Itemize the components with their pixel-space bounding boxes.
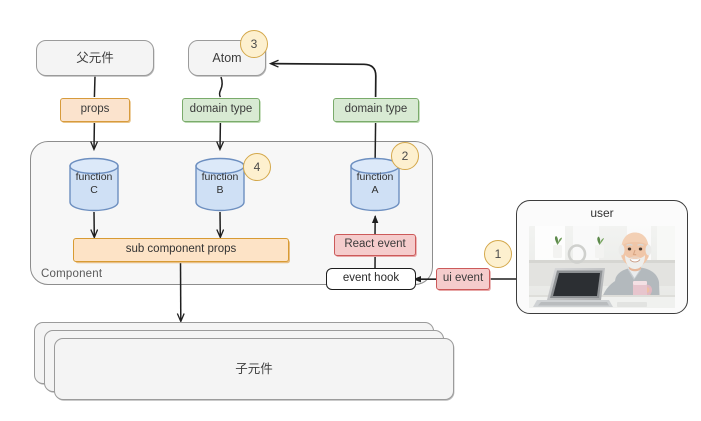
user-photo-illustration bbox=[529, 226, 675, 308]
badge-1: 1 bbox=[484, 240, 512, 268]
tag-domain-type-left[interactable]: domain type bbox=[182, 98, 260, 122]
badge-1-label: 1 bbox=[495, 247, 502, 261]
component-container-label: Component bbox=[41, 268, 102, 280]
node-function-c[interactable]: function C bbox=[65, 155, 123, 213]
badge-2: 2 bbox=[391, 142, 419, 170]
tag-ui-event[interactable]: ui event bbox=[436, 268, 490, 290]
tag-props[interactable]: props bbox=[60, 98, 130, 122]
tag-ui-event-label: ui event bbox=[443, 272, 483, 285]
node-child-label: 子元件 bbox=[235, 362, 273, 376]
tag-react-event[interactable]: React event bbox=[334, 234, 416, 256]
diagram-canvas: Component bbox=[0, 0, 701, 421]
badge-3-label: 3 bbox=[251, 37, 258, 51]
node-event-hook[interactable]: event hook bbox=[326, 268, 416, 290]
badge-4: 4 bbox=[243, 153, 271, 181]
node-parent-component-label: 父元件 bbox=[76, 51, 114, 65]
node-function-b[interactable]: function B bbox=[191, 155, 249, 213]
tag-props-label: props bbox=[81, 103, 110, 116]
badge-4-label: 4 bbox=[254, 160, 261, 174]
node-parent-component[interactable]: 父元件 bbox=[36, 40, 154, 76]
tag-react-event-label: React event bbox=[344, 238, 405, 251]
tag-domain-type-right[interactable]: domain type bbox=[333, 98, 419, 122]
tag-domain-type-left-label: domain type bbox=[190, 103, 253, 116]
tag-domain-type-right-label: domain type bbox=[345, 103, 408, 116]
user-panel-label: user bbox=[516, 206, 688, 220]
node-child-front[interactable]: 子元件 bbox=[54, 338, 454, 400]
node-atom-label: Atom bbox=[212, 51, 241, 65]
node-sub-component-props[interactable]: sub component props bbox=[73, 238, 289, 262]
user-photo bbox=[529, 226, 675, 308]
badge-3: 3 bbox=[240, 30, 268, 58]
node-sub-component-props-label: sub component props bbox=[126, 243, 237, 256]
node-event-hook-label: event hook bbox=[343, 272, 399, 285]
cylinder-shape bbox=[191, 155, 249, 213]
cylinder-shape bbox=[65, 155, 123, 213]
badge-2-label: 2 bbox=[402, 149, 409, 163]
